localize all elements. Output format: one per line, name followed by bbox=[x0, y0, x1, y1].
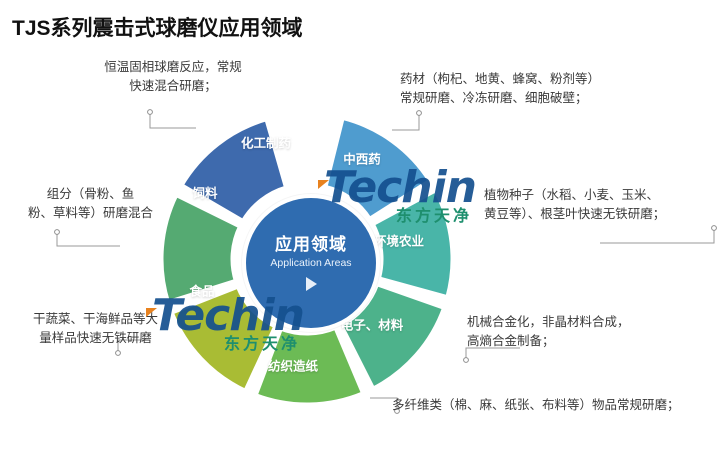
callout-line: 药材（枸杞、地黄、蜂窝、粉剂等） bbox=[400, 70, 600, 89]
donut-center-hub[interactable]: 应用领域 Application Areas bbox=[242, 194, 380, 332]
callout-line: 粉、草料等）研磨混合 bbox=[8, 204, 173, 223]
segment-label-food[interactable]: 食品 bbox=[189, 281, 214, 300]
play-triangle-icon bbox=[306, 277, 317, 291]
callout-line: 常规研磨、冷冻研磨、细胞破壁； bbox=[400, 89, 600, 108]
callout-line: 黄豆等）、根茎叶快速无铁研磨； bbox=[484, 205, 665, 224]
segment-label-feed[interactable]: 饲料 bbox=[192, 183, 217, 202]
callout-line: 植物种子（水稻、小麦、玉米、 bbox=[484, 186, 665, 205]
hub-title-en: Application Areas bbox=[270, 256, 351, 270]
segment-label-environment-agriculture[interactable]: 环境农业 bbox=[374, 231, 424, 250]
callout-electronics-materials: 机械合金化，非晶材料合成， 高熵合金制备； bbox=[467, 313, 630, 351]
callout-line: 恒温固相球磨反应，常规 bbox=[78, 58, 268, 77]
callout-environment-agriculture: 植物种子（水稻、小麦、玉米、 黄豆等）、根茎叶快速无铁研磨； bbox=[484, 186, 665, 224]
segment-label-textile-paper[interactable]: 纺织造纸 bbox=[268, 356, 318, 375]
infographic-root: TJS系列震击式球磨仪应用领域 bbox=[0, 0, 726, 450]
callout-feed: 组分（骨粉、鱼 粉、草料等）研磨混合 bbox=[8, 185, 173, 223]
callout-line: 高熵合金制备； bbox=[467, 332, 630, 351]
callout-line: 快速混合研磨； bbox=[78, 77, 268, 96]
segment-label-medicine[interactable]: 中西药 bbox=[343, 149, 381, 168]
callout-line: 组分（骨粉、鱼 bbox=[8, 185, 173, 204]
callout-line: 机械合金化，非晶材料合成， bbox=[467, 313, 630, 332]
callout-chemical-pharma: 恒温固相球磨反应，常规 快速混合研磨； bbox=[78, 58, 268, 96]
callout-medicine: 药材（枸杞、地黄、蜂窝、粉剂等） 常规研磨、冷冻研磨、细胞破壁； bbox=[400, 70, 600, 108]
application-areas-donut: 化工制药 中西药 环境农业 电子、材料 纺织造纸 食品 饲料 应用领域 Appl… bbox=[150, 110, 480, 410]
segment-label-chemical-pharma[interactable]: 化工制药 bbox=[241, 133, 291, 152]
hub-title-cn: 应用领域 bbox=[275, 235, 347, 255]
